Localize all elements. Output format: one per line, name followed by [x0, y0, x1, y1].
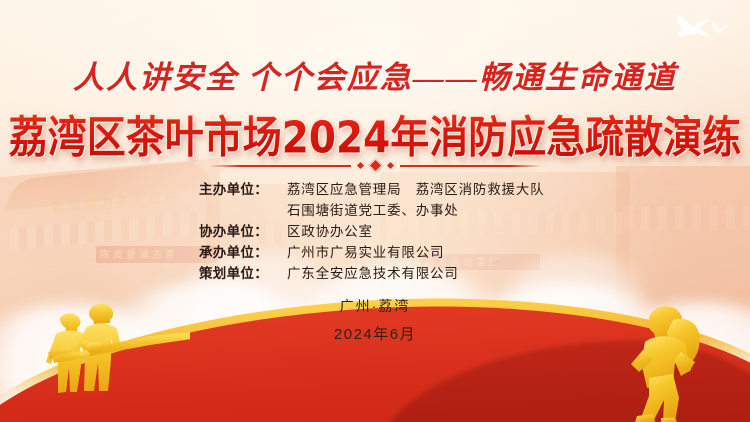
poster-canvas: 荔湾南方茶叶市场 陈皮普洱古茶 勐海远达茶厂 — [0, 0, 750, 422]
event-date: 2024年6月 — [0, 323, 750, 344]
text-layer: 人人讲安全 个个会应急——畅通生命通道 荔湾区茶叶市场2024年消防应急疏散演练… — [0, 0, 750, 422]
organizer-value: 荔湾区应急管理局 荔湾区消防救援大队 — [287, 178, 551, 198]
organizer-value: 广州市广易实业有限公司 — [287, 241, 551, 261]
slogan-text: 人人讲安全 个个会应急——畅通生命通道 — [0, 52, 750, 97]
divider-line-right — [400, 165, 542, 167]
organizer-label: 协办单位： — [199, 220, 287, 240]
organizer-row: 主办单位： 石围塘街道党工委、办事处 — [199, 199, 551, 219]
organizer-value: 石围塘街道党工委、办事处 — [287, 199, 551, 219]
divider-line-left — [209, 165, 351, 167]
divider-dot-right-icon — [386, 162, 393, 169]
organizer-label: 主办单位： — [199, 178, 287, 198]
ornamental-divider — [0, 160, 750, 171]
organizer-value: 区政协办公室 — [287, 220, 551, 240]
organizer-row: 主办单位： 荔湾区应急管理局 荔湾区消防救援大队 — [199, 178, 551, 198]
organizer-row: 承办单位： 广州市广易实业有限公司 — [199, 241, 551, 261]
event-location: 广州·荔湾 — [0, 296, 750, 316]
organizer-block: 主办单位： 荔湾区应急管理局 荔湾区消防救援大队 主办单位： 石围塘街道党工委、… — [0, 178, 750, 283]
organizer-row: 策划单位： 广东全安应急技术有限公司 — [199, 262, 551, 282]
organizer-label: 承办单位： — [199, 241, 287, 261]
organizer-value: 广东全安应急技术有限公司 — [287, 262, 551, 282]
divider-dot-left-icon — [356, 162, 363, 169]
organizer-row: 协办单位： 区政协办公室 — [199, 220, 551, 240]
organizer-label: 策划单位： — [199, 262, 287, 282]
diamond-ornament-icon — [367, 158, 383, 174]
footer-block: 广州·荔湾 2024年6月 — [0, 296, 750, 344]
